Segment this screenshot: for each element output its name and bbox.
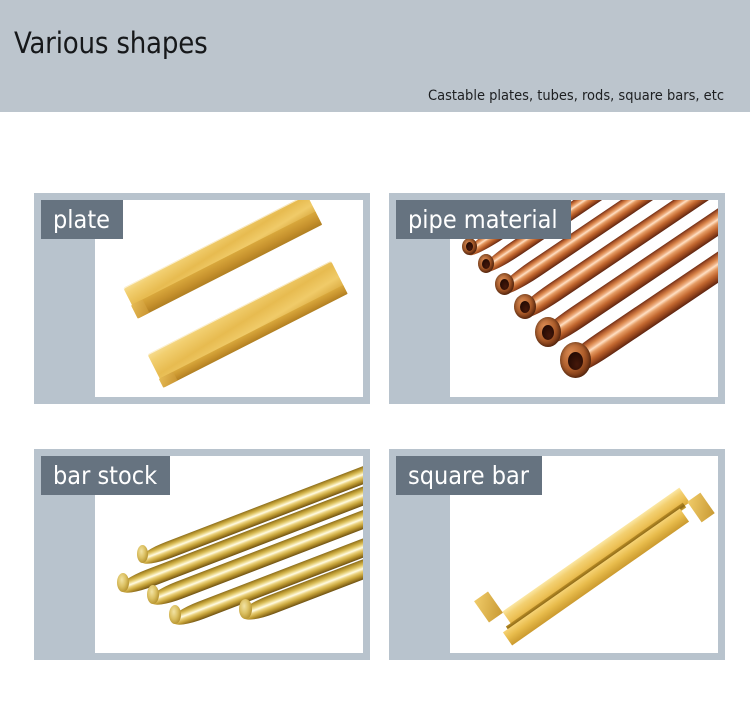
pipe-5-bore	[542, 325, 554, 340]
shape-card-label-square-bar: square bar	[396, 456, 542, 495]
plate-photo	[95, 200, 363, 397]
page-subtitle: Castable plates, tubes, rods, square bar…	[428, 88, 724, 105]
rod-4-cap	[169, 605, 181, 624]
rod-5-cap	[239, 599, 252, 619]
square-bar-front-face	[503, 509, 689, 646]
pipe-4-mouth	[514, 294, 536, 319]
shape-card-bar-stock[interactable]: bar stock	[34, 449, 370, 660]
pipe-1-mouth	[462, 238, 477, 255]
shape-card-label-pipe-material: pipe material	[396, 200, 571, 239]
pipe-2-mouth	[478, 254, 494, 273]
shape-card-pipe-material[interactable]: pipe material	[389, 193, 725, 404]
shape-cards-grid: plate	[0, 112, 750, 702]
header-band: Various shapes Castable plates, tubes, r…	[0, 0, 750, 112]
shape-card-label-bar-stock: bar stock	[41, 456, 170, 495]
pipe-4-bore	[520, 301, 530, 313]
pipe-6-mouth	[560, 342, 591, 378]
pipe-3-bore	[500, 279, 509, 290]
pipe-2-bore	[482, 259, 490, 269]
rod-1-cap	[137, 545, 148, 563]
square-bar-near-end-face	[474, 591, 503, 622]
shape-card-square-bar[interactable]: square bar	[389, 449, 725, 660]
pipe-3-mouth	[495, 273, 514, 295]
rod-3-cap	[147, 585, 159, 604]
square-bar-top-face	[502, 488, 689, 627]
rod-2-cap	[117, 573, 129, 592]
square-bar-far-end-face	[687, 493, 714, 523]
pipe-5-mouth	[535, 317, 561, 347]
pipe-6-bore	[568, 352, 583, 370]
pipe-1-bore	[466, 242, 473, 251]
shape-card-plate[interactable]: plate	[34, 193, 370, 404]
shape-card-label-plate: plate	[41, 200, 123, 239]
plate-artwork	[95, 200, 363, 397]
page-title: Various shapes	[14, 26, 207, 60]
